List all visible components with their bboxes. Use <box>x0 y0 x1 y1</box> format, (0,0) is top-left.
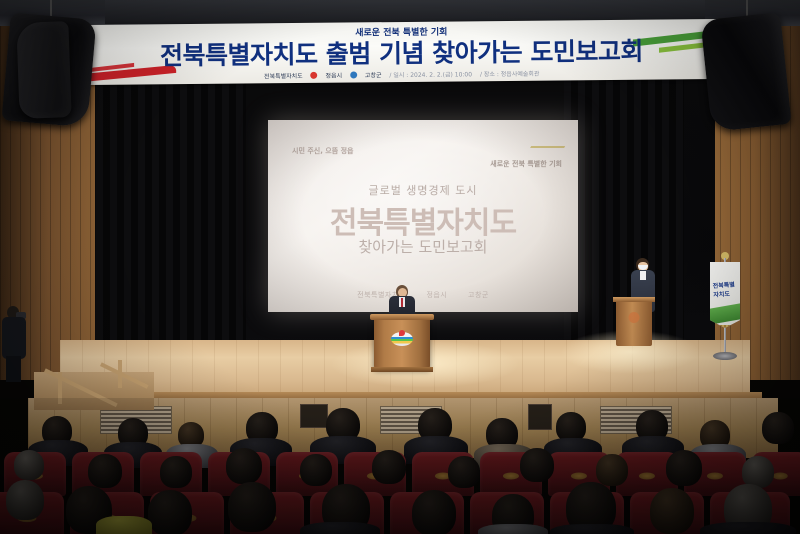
stage-curtain-left <box>96 78 246 348</box>
podium-emblem-icon <box>391 332 413 346</box>
hanging-speaker-right <box>700 12 791 132</box>
audience-shoulders-front <box>96 516 152 534</box>
projection-screen: 시민 주신, 으뜸 정읍 새로운 전북 특별한 기회 글로벌 생명경제 도시 전… <box>268 120 578 312</box>
banner-location: / 장소 : 정읍사예술회관 <box>480 71 540 79</box>
audience-head <box>762 412 794 444</box>
flag-stand <box>713 352 737 360</box>
audience-head-front <box>412 490 456 534</box>
photographer-person <box>2 306 26 382</box>
presenter-tie <box>401 298 403 307</box>
banner-datetime: / 일시 : 2024. 2. 2.(금) 10:00 <box>389 71 472 79</box>
speaker-hanger-left <box>50 0 52 16</box>
flag-green-band <box>710 303 740 324</box>
photographer-body <box>2 317 26 359</box>
event-banner: 새로운 전북 특별한 기회 전북특별자치도 출범 기념 찾아가는 도민보고회 전… <box>74 19 730 85</box>
banner-org-3: 고창군 <box>365 72 382 79</box>
audience-head <box>88 454 122 488</box>
audience-shoulders-front <box>478 524 548 534</box>
audience-area <box>0 398 800 534</box>
audience-head <box>300 454 332 486</box>
audience-shoulders-front <box>550 524 634 534</box>
photographer-legs <box>6 356 21 382</box>
audience-head-front <box>6 480 44 520</box>
interpreter-podium <box>616 300 652 346</box>
audience-head <box>666 450 702 486</box>
audience-head <box>226 448 262 484</box>
audience-head <box>160 456 192 488</box>
jeongeup-emblem-icon <box>311 72 318 79</box>
auditorium-photo: 새로운 전북 특별한 기회 전북특별자치도 출범 기념 찾아가는 도민보고회 전… <box>0 0 800 534</box>
audience-head <box>448 456 480 488</box>
banner-org-2: 정읍시 <box>325 73 342 80</box>
main-podium <box>374 318 430 368</box>
audience-head <box>596 454 628 486</box>
audience-head <box>14 450 44 480</box>
banner-org-1: 전북특별자치도 <box>264 73 303 80</box>
screen-vignette <box>268 120 578 312</box>
audience-head-front <box>228 482 276 532</box>
audience-head-front <box>650 488 694 534</box>
audience-head <box>520 448 554 482</box>
interpreter-podium-top <box>613 297 655 302</box>
hanging-speaker-left-inner <box>16 21 71 119</box>
audience-shoulders-front <box>700 522 796 534</box>
gochang-emblem-icon <box>350 71 357 78</box>
podium-base <box>371 367 433 372</box>
interpreter-podium-emblem-icon <box>629 312 640 323</box>
audience-shoulders-front <box>300 522 380 534</box>
flag-text: 전북특별자치도 <box>712 279 740 299</box>
interpreter-shirt <box>640 271 646 280</box>
audience-head-front <box>148 490 192 534</box>
stair-post-2 <box>118 360 122 388</box>
podium-top <box>370 314 434 320</box>
audience-head <box>372 450 406 484</box>
province-flag: 전북특별자치도 <box>710 262 740 328</box>
speaker-hanger-right <box>746 0 748 16</box>
